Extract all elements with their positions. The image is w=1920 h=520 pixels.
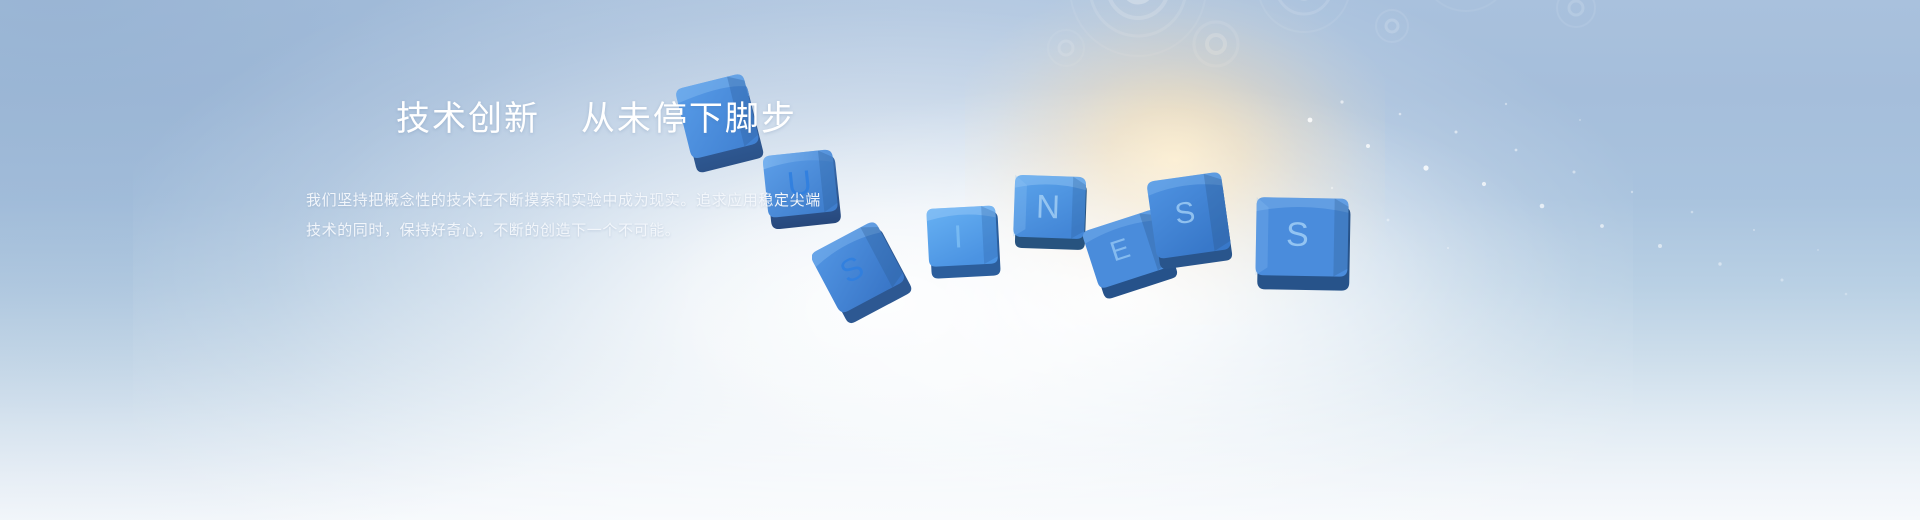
keycap-letter: S: [1286, 216, 1309, 254]
banner-copy: 技术创新 从未停下脚步 我们坚持把概念性的技术在不断摸索和实验中成为现实。追求应…: [396, 96, 1036, 246]
keycap-cluster: U S: [0, 0, 1920, 520]
hero-banner: U S: [0, 0, 1920, 520]
description-line-2: 技术的同时，保持好奇心，不断的创造下一个不可能。: [306, 216, 866, 246]
keycap-s-2: S: [1140, 160, 1244, 280]
headline-part-1: 技术创新: [396, 100, 540, 138]
keycap-letter: N: [1036, 187, 1061, 225]
headline-part-2: 从未停下脚步: [581, 100, 797, 138]
banner-description: 我们坚持把概念性的技术在不断摸索和实验中成为现实。追求应用稳定尖端 技术的同时，…: [306, 186, 866, 246]
center-glow: [133, 0, 1633, 520]
keycap-letter: S: [1173, 196, 1197, 231]
description-line-1: 我们坚持把概念性的技术在不断摸索和实验中成为现实。追求应用稳定尖端: [306, 186, 866, 216]
page-title: 技术创新 从未停下脚步: [396, 96, 1036, 142]
corner-vignette: [0, 0, 900, 520]
sparkle-particles-decoration: [1280, 80, 1900, 360]
keycap-letter: S: [834, 248, 870, 290]
concentric-rings-decoration: [1020, 0, 1640, 230]
keycap-letter: E: [1106, 232, 1133, 267]
keycap-e: E: [1078, 200, 1190, 304]
keycap-s-3: S: [1244, 184, 1364, 302]
